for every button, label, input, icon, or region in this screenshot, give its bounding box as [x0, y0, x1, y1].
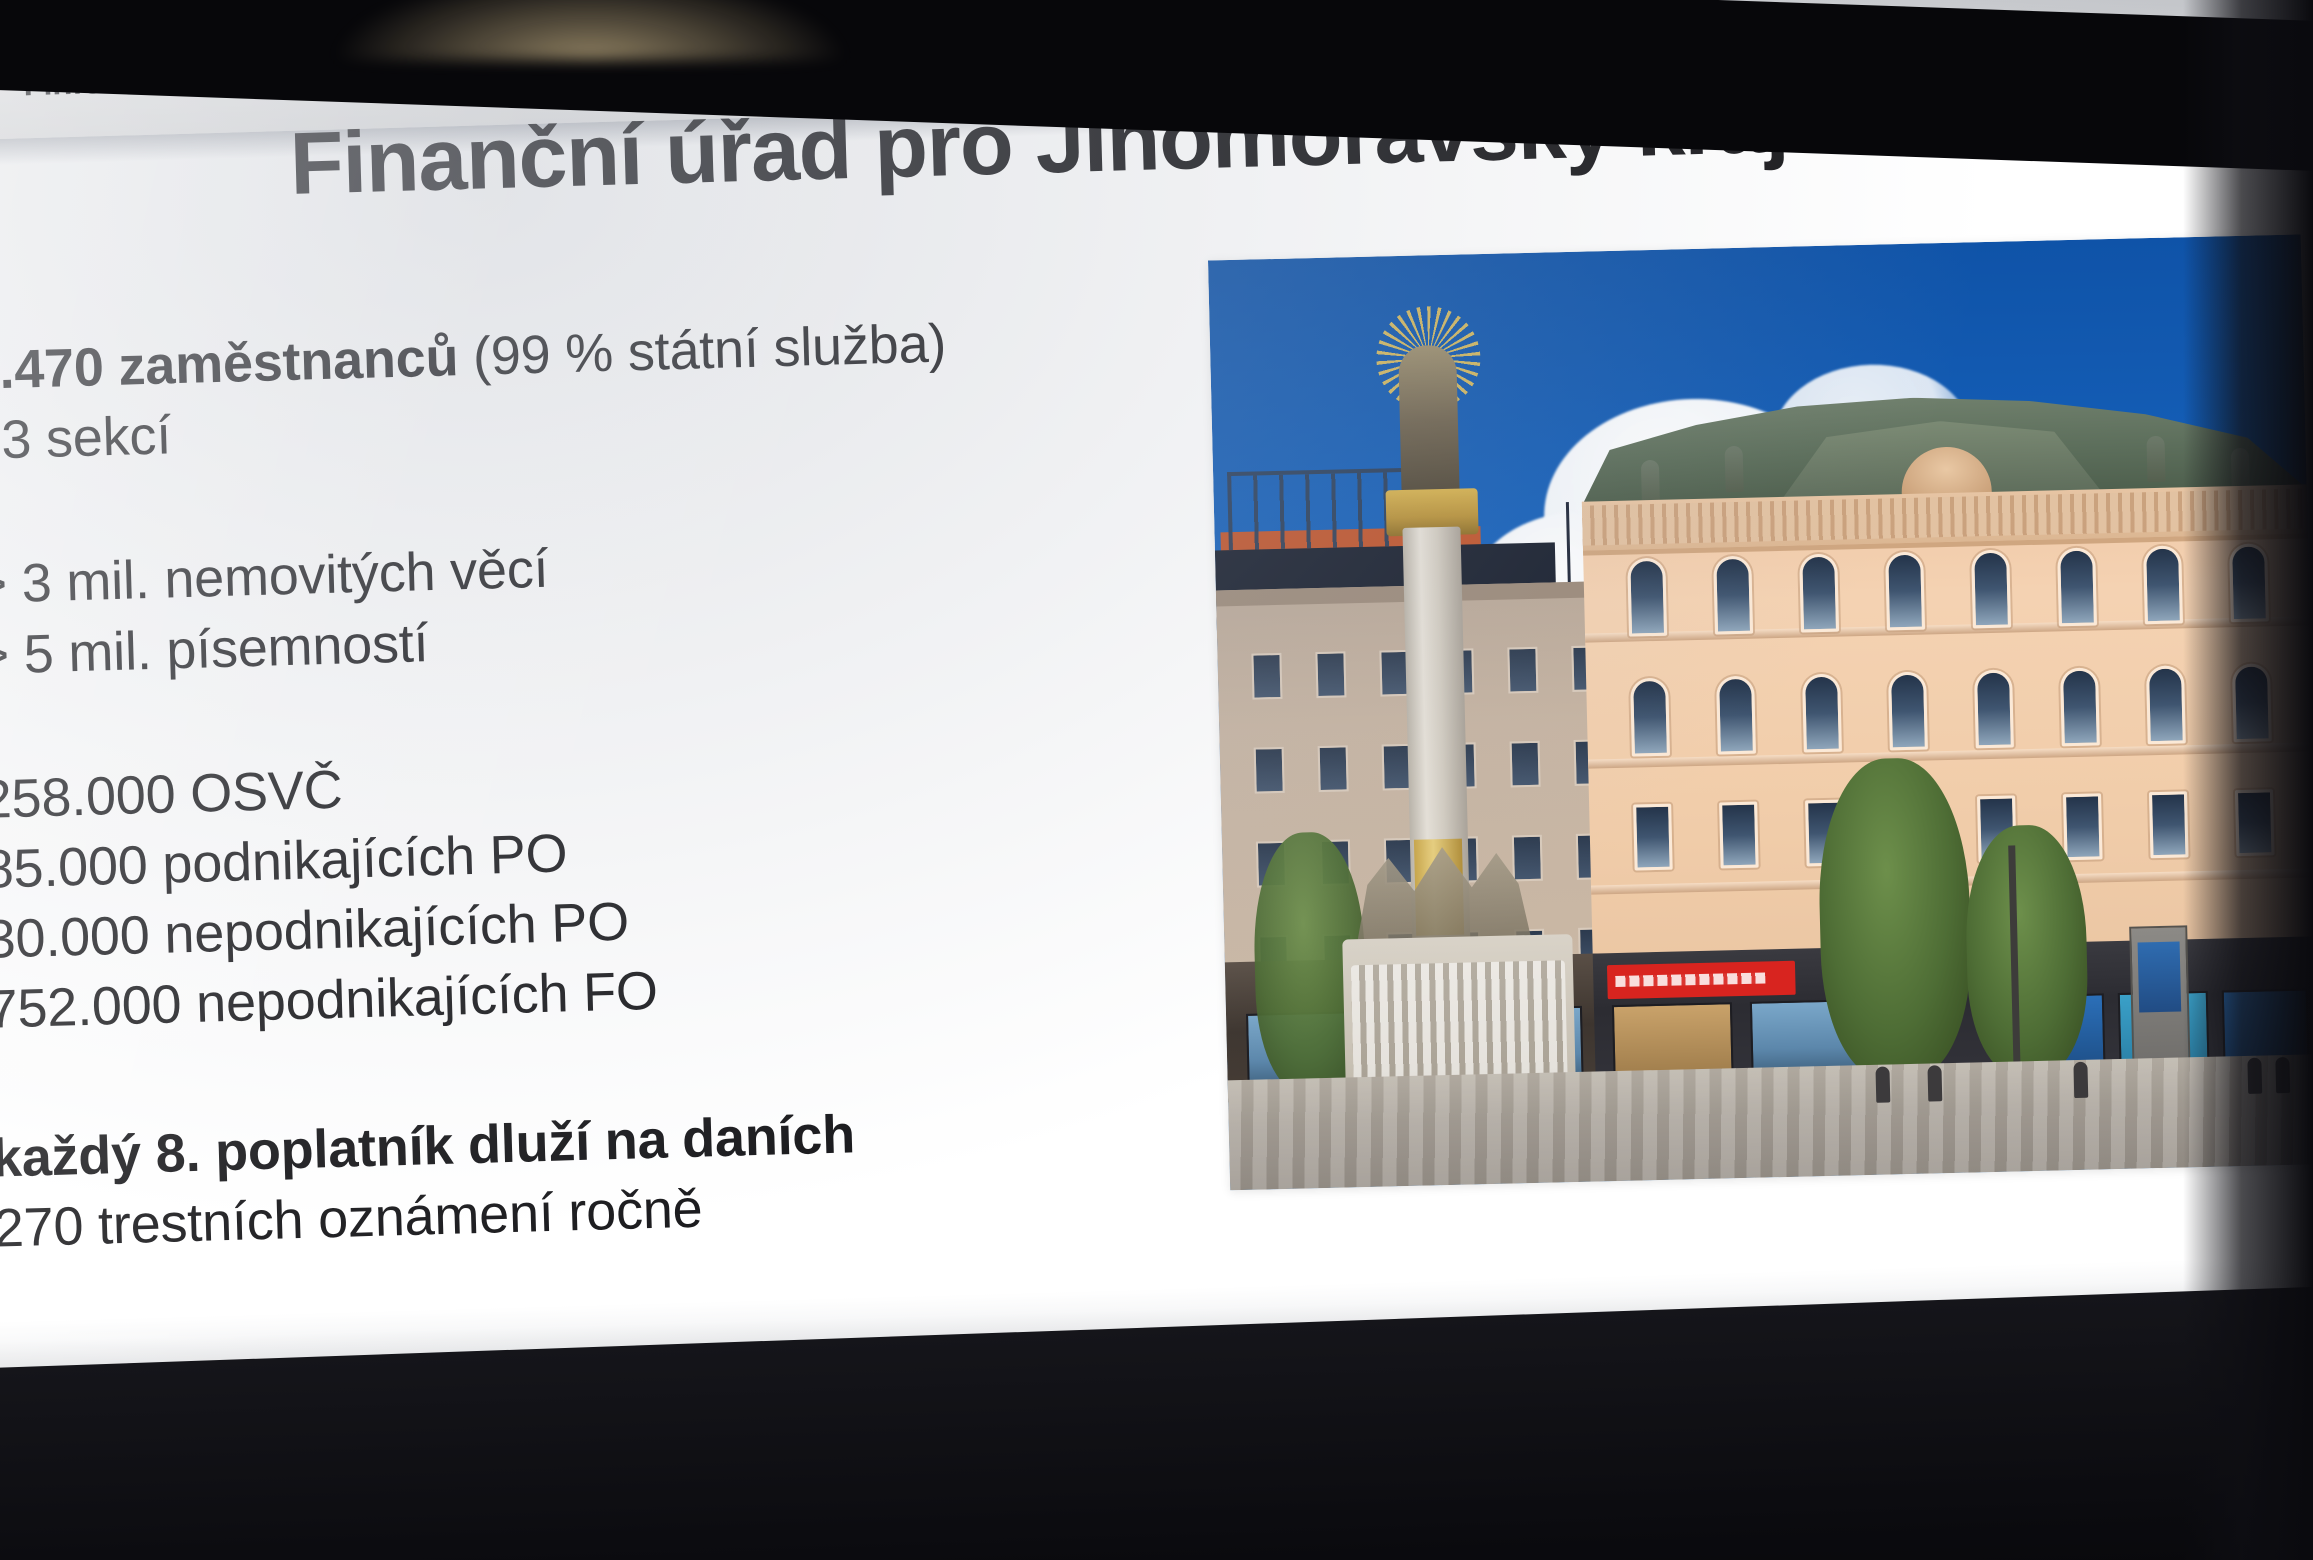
photo-window [1719, 802, 1759, 869]
photo-roof-statue [1725, 446, 1744, 492]
photo-window [1507, 647, 1538, 694]
ceiling-light-reflection [330, 0, 850, 60]
photo-window [2060, 667, 2100, 746]
photo-window [2063, 793, 2103, 860]
slide-surface: Finanční úřad pro Jihomoravský kraj 1.47… [0, 73, 2313, 1471]
photo-column-statue [1398, 345, 1460, 496]
photo-window [2146, 665, 2186, 744]
photo-window [1971, 549, 2011, 628]
photo-pedestrian [2073, 1062, 2088, 1098]
photo-window [1716, 676, 1756, 755]
stat-employees-value: 1.470 zaměstnanců [0, 327, 459, 401]
stat-employees-note: (99 % státní služba) [457, 313, 947, 387]
photo-window [1802, 674, 1842, 753]
photo-window [2143, 545, 2183, 624]
photo-window [2057, 547, 2097, 626]
photo-pedestrian [1927, 1065, 1942, 1101]
photo-shop-sign-red [1607, 961, 1796, 999]
photo-window [1254, 747, 1285, 794]
photo-window [1315, 651, 1346, 698]
photo-window [1512, 835, 1543, 882]
photo-window [1633, 804, 1673, 871]
photo-window [1799, 554, 1839, 633]
presentation-screen: Slide text dluží na daních Finfo ve škol… [0, 0, 2313, 1472]
slide-text-column: 1.470 zaměstnanců (99 % státní služba) 1… [0, 302, 1194, 1263]
photo-window [1713, 556, 1753, 635]
photo-window [1885, 552, 1925, 631]
photographed-screen-scene: Slide text dluží na daních Finfo ve škol… [0, 0, 2313, 1560]
photo-window [1627, 558, 1667, 637]
photo-window [1510, 741, 1541, 788]
photo-advertising-kiosk [2129, 925, 2191, 1076]
photo-roof-statue [2146, 436, 2165, 482]
photo-window [1888, 672, 1928, 751]
photo-window [1974, 669, 2014, 748]
photo-window [1630, 678, 1670, 757]
photo-window [1318, 745, 1349, 792]
monitor-bezel-right [2183, 0, 2313, 1560]
photo-window [1251, 653, 1282, 700]
slide-photo-brno-square [1208, 234, 2313, 1190]
photo-pedestrian [1875, 1066, 1890, 1102]
